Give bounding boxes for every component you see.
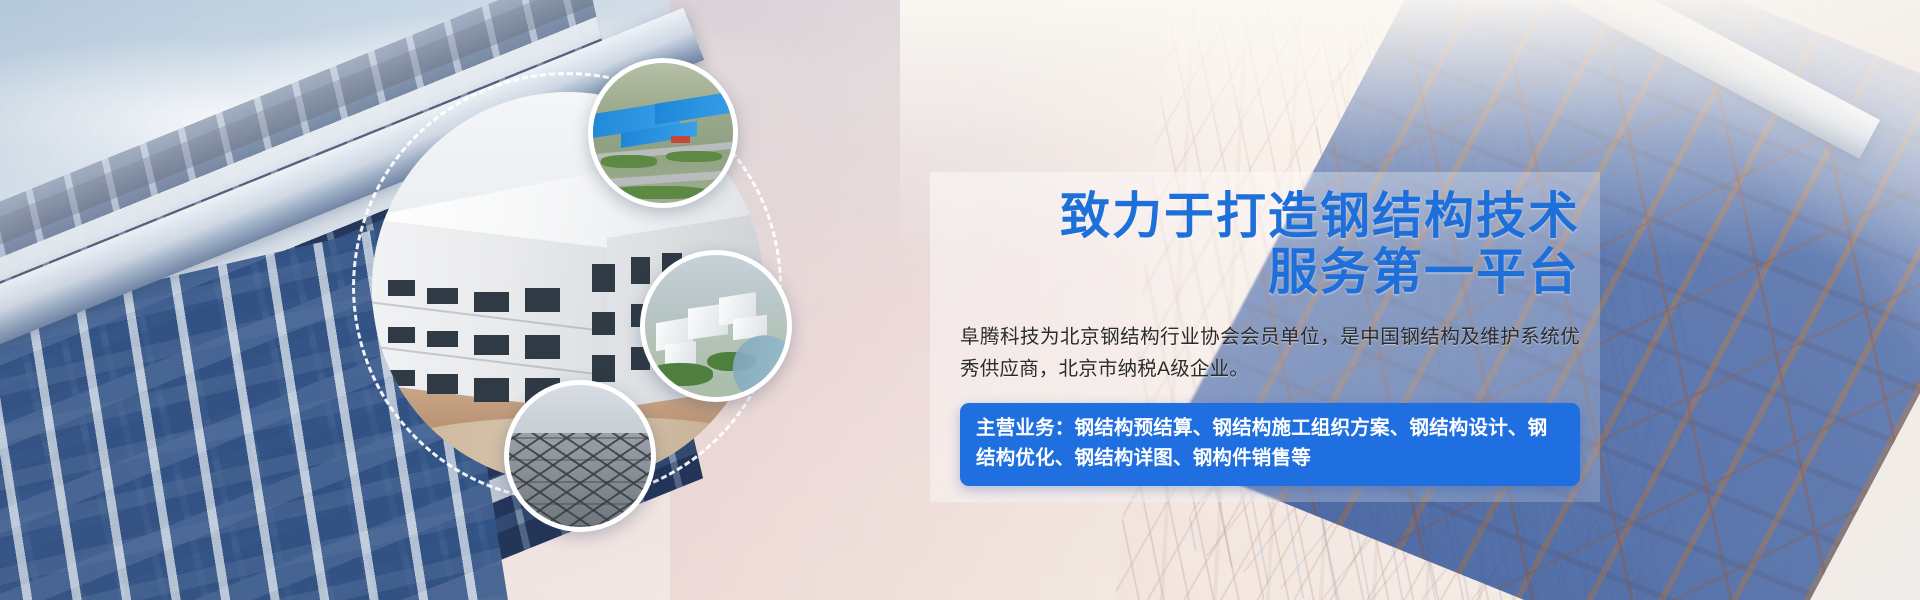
main-photo-window [388, 327, 415, 343]
main-photo-window [388, 370, 415, 386]
main-photo-window [427, 331, 458, 347]
thumb1-sports-court [671, 136, 689, 143]
main-photo-window [592, 355, 616, 382]
company-description: 阜腾科技为北京钢结构行业协会会员单位，是中国钢结构及维护系统优秀供应商，北京市纳… [960, 322, 1580, 385]
photo-cluster [352, 42, 852, 552]
main-photo-window [474, 292, 509, 312]
text-panel-content: 致力于打造钢结构技术 服务第一平台 阜腾科技为北京钢结构行业协会会员单位，是中国… [960, 188, 1580, 486]
main-photo-window [474, 378, 509, 402]
main-photo-window [525, 335, 560, 359]
business-scope-box: 主营业务：钢结构预结算、钢结构施工组织方案、钢结构设计、钢结构优化、钢结构详图、… [960, 403, 1580, 486]
thumb-photo-campus-aerial [640, 250, 792, 402]
main-photo-window [525, 288, 560, 312]
hero-banner: 致力于打造钢结构技术 服务第一平台 阜腾科技为北京钢结构行业协会会员单位，是中国… [0, 0, 1920, 600]
main-photo-window [474, 335, 509, 355]
main-photo-window [592, 264, 616, 291]
page-title: 致力于打造钢结构技术 服务第一平台 [960, 188, 1580, 300]
main-photo-window [592, 312, 616, 336]
headline-line-1: 致力于打造钢结构技术 [1060, 186, 1580, 245]
thumb-photo-steel-truss [504, 380, 656, 532]
thumb3-space-frame [509, 433, 651, 527]
thumb1-landscaping [666, 151, 722, 162]
main-photo-window [427, 374, 458, 394]
main-photo-window [427, 288, 458, 304]
thumb-photo-factory-aerial [588, 58, 738, 208]
headline-line-2: 服务第一平台 [960, 244, 1580, 300]
thumb1-landscaping [610, 186, 708, 199]
thumb2-trees [648, 363, 713, 386]
thumb1-landscaping [601, 155, 657, 168]
main-photo-window [388, 280, 415, 296]
